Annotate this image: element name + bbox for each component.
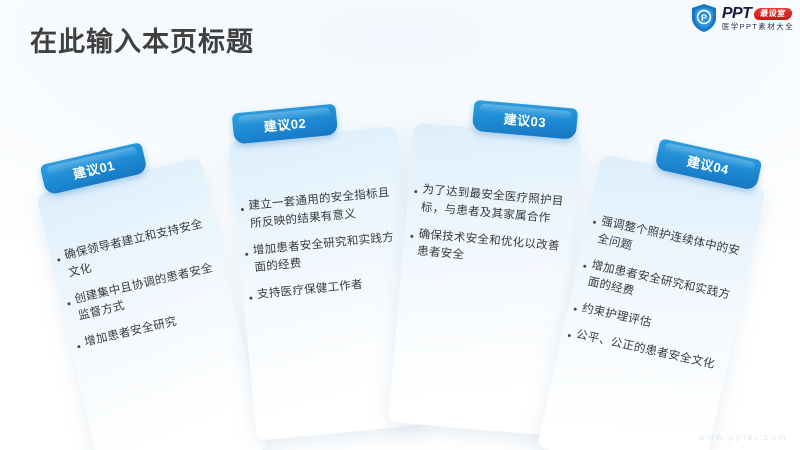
bullet-icon [77,345,81,349]
bullet-icon [67,302,71,306]
card-body-3: 为了达到最安全医疗照护目标，与患者及其家属合作 确保技术安全和优化以改善患者安全 [401,180,576,284]
card-tab-label: 建议02 [263,113,307,136]
list-item: 增加患者安全研究和实践方面的经费 [244,229,400,279]
card-tab-label: 建议04 [685,151,731,179]
bullet-text: 确保技术安全和优化以改善患者安全 [416,226,564,274]
bullet-icon [57,258,61,262]
bullet-text: 增加患者安全研究和实践方面的经费 [252,229,400,278]
shield-icon: P [690,3,718,33]
card-body-1: 确保领导者建立和支持安全文化 创建集中且协调的患者安全监督方式 增加患者安全研究 [49,214,239,365]
logo-subtitle: 医学PPT素材大全 [722,23,794,31]
svg-text:P: P [701,13,707,23]
bullet-text: 支持医疗保健工作者 [256,277,363,305]
card-tab-label: 建议03 [503,108,547,131]
list-item: 为了达到最安全医疗照护目标，与患者及其家属合作 [412,181,568,230]
logo-badge: 最设室 [754,8,793,20]
bullet-icon [583,264,587,268]
bullet-icon [568,334,572,338]
page-title: 在此输入本页标题 [30,20,254,59]
bullet-icon [249,297,252,300]
card-body-2: 建立一套通用的安全指标且所反映的结果有意义 增加患者安全研究和实践方面的经费 支… [234,184,412,316]
bullet-text: 约束护理评估 [580,301,653,334]
card-body-4: 强调整个照护连续体中的安全问题 增加患者安全研究和实践方面的经费 约束护理评估 … [559,210,754,386]
watermark: www.ppter.com [698,432,788,442]
list-item: 确保技术安全和优化以改善患者安全 [408,225,564,274]
list-item: 建立一套通用的安全指标且所反映的结果有意义 [240,185,396,235]
logo-brand-text: PPT [722,6,752,22]
card-tab-label: 建议01 [71,155,117,183]
bullet-text: 建立一套通用的安全指标且所反映的结果有意义 [248,185,396,234]
bullet-icon [245,252,248,255]
bullet-icon [414,190,417,193]
bullet-icon [241,208,244,211]
bullet-text: 为了达到最安全医疗照护目标，与患者及其家属合作 [420,182,568,230]
bullet-icon [593,221,597,225]
bullet-icon [410,234,413,237]
brand-logo: P PPT 最设室 医学PPT素材大全 [690,3,794,33]
list-item: 支持医疗保健工作者 [248,273,402,305]
bullet-icon [573,308,577,312]
